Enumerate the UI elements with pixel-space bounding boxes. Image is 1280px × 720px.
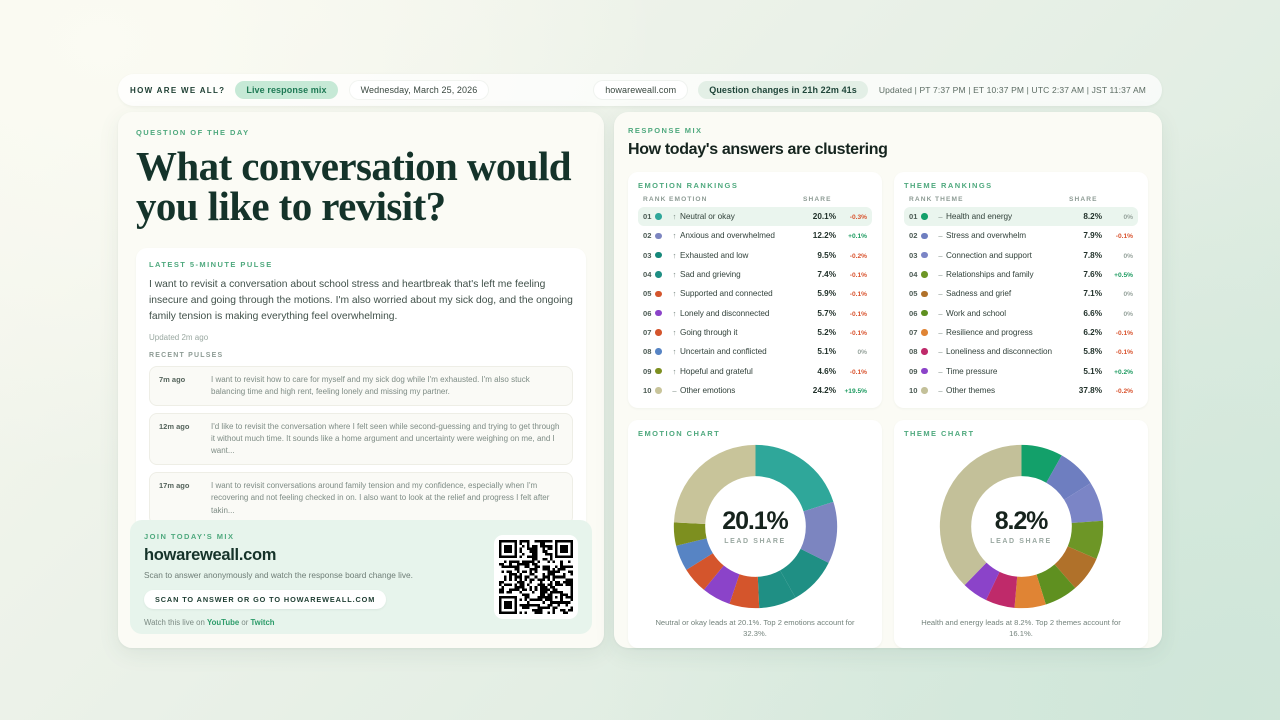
share-cell: 7.1%0% — [1069, 289, 1133, 298]
rank-cell: 07 — [909, 328, 935, 337]
share-delta: -0.1% — [1107, 233, 1133, 240]
rank-cell: 05 — [643, 289, 669, 298]
share-value: 5.2% — [817, 328, 836, 337]
rank-cell: 02 — [909, 231, 935, 240]
share-delta: 0% — [1107, 253, 1133, 260]
share-value: 8.2% — [1083, 212, 1102, 221]
share-cell: 20.1%-0.3% — [803, 212, 867, 221]
share-cell: 12.2%+0.1% — [803, 231, 867, 240]
trend-arrow-icon: ↑ — [669, 367, 680, 376]
share-cell: 9.5%-0.2% — [803, 251, 867, 260]
category-color-dot — [921, 233, 928, 240]
category-color-dot — [655, 233, 662, 240]
trend-arrow-icon: – — [935, 367, 946, 376]
emotion-rankings-rows: 01↑Neutral or okay20.1%-0.3%02↑Anxious a… — [638, 207, 872, 400]
table-row[interactable]: 06↑Lonely and disconnected5.7%-0.1% — [638, 303, 872, 322]
emotion-rankings-header: RANK EMOTION SHARE — [638, 196, 872, 207]
category-color-dot — [655, 291, 662, 298]
youtube-link[interactable]: YouTube — [207, 618, 239, 627]
category-color-dot — [655, 310, 662, 317]
theme-rankings-rows: 01–Health and energy8.2%0%02–Stress and … — [904, 207, 1138, 400]
share-cell: 8.2%0% — [1069, 212, 1133, 221]
rank-cell: 04 — [643, 270, 669, 279]
emotion-rankings-eyebrow: EMOTION RANKINGS — [638, 181, 872, 190]
rank-cell: 08 — [643, 347, 669, 356]
category-color-dot — [655, 368, 662, 375]
share-delta: 0% — [1107, 214, 1133, 221]
rank-cell: 01 — [643, 212, 669, 221]
table-row[interactable]: 01↑Neutral or okay20.1%-0.3% — [638, 207, 872, 226]
pulse-timestamp: 7m ago — [159, 374, 201, 398]
share-delta: -0.1% — [1107, 349, 1133, 356]
recent-pulses-label: RECENT PULSES — [149, 352, 573, 359]
share-value: 6.2% — [1083, 328, 1102, 337]
category-name: Time pressure — [946, 367, 1069, 376]
category-name: Work and school — [946, 309, 1069, 318]
table-row[interactable]: 05–Sadness and grief7.1%0% — [904, 284, 1138, 303]
charts-grid: EMOTION CHART 20.1% LEAD SHARE Neutral o… — [628, 420, 1148, 648]
category-color-dot — [655, 213, 662, 220]
share-value: 12.2% — [813, 231, 836, 240]
table-row[interactable]: 08–Loneliness and disconnection5.8%-0.1% — [904, 342, 1138, 361]
share-delta: 0% — [1107, 311, 1133, 318]
table-row[interactable]: 06–Work and school6.6%0% — [904, 303, 1138, 322]
latest-pulse-card: LATEST 5-MINUTE PULSE I want to revisit … — [136, 248, 586, 538]
trend-arrow-icon: ↑ — [669, 270, 680, 279]
table-row[interactable]: 01–Health and energy8.2%0% — [904, 207, 1138, 226]
share-delta: 0% — [841, 349, 867, 356]
share-delta: +0.5% — [1107, 272, 1133, 279]
trend-arrow-icon: – — [669, 386, 680, 395]
category-color-dot — [921, 291, 928, 298]
join-mix-card: JOIN TODAY'S MIX howareweall.com Scan to… — [130, 520, 592, 634]
share-cell: 5.1%0% — [803, 347, 867, 356]
share-value: 20.1% — [813, 212, 836, 221]
category-name: Stress and overwhelm — [946, 231, 1069, 240]
response-mix-panel: RESPONSE MIX How today's answers are clu… — [614, 112, 1162, 648]
rank-cell: 06 — [643, 309, 669, 318]
category-color-dot — [921, 348, 928, 355]
share-value: 5.7% — [817, 309, 836, 318]
trend-arrow-icon: ↑ — [669, 289, 680, 298]
theme-chart-card: THEME CHART 8.2% LEAD SHARE Health and e… — [894, 420, 1148, 648]
share-cell: 5.9%-0.1% — [803, 289, 867, 298]
trend-arrow-icon: – — [935, 328, 946, 337]
share-cell: 6.6%0% — [1069, 309, 1133, 318]
category-name: Connection and support — [946, 251, 1069, 260]
join-subtitle: Scan to answer anonymously and watch the… — [144, 570, 474, 582]
share-cell: 7.6%+0.5% — [1069, 270, 1133, 279]
pulse-timestamp: 17m ago — [159, 480, 201, 516]
emotion-donut[interactable]: 20.1% LEAD SHARE — [673, 444, 838, 609]
trend-arrow-icon: ↑ — [669, 328, 680, 337]
share-value: 6.6% — [1083, 309, 1102, 318]
table-row[interactable]: 10–Other emotions24.2%+19.5% — [638, 381, 872, 400]
category-name: Hopeful and grateful — [680, 367, 803, 376]
table-row[interactable]: 09↑Hopeful and grateful4.6%-0.1% — [638, 361, 872, 380]
share-cell: 5.1%+0.2% — [1069, 367, 1133, 376]
trend-arrow-icon: ↑ — [669, 251, 680, 260]
emotion-donut-svg — [673, 444, 838, 609]
category-name: Lonely and disconnected — [680, 309, 803, 318]
category-color-dot — [655, 348, 662, 355]
column-rank: RANK — [909, 196, 935, 203]
table-row[interactable]: 04–Relationships and family7.6%+0.5% — [904, 265, 1138, 284]
table-row[interactable]: 03↑Exhausted and low9.5%-0.2% — [638, 246, 872, 265]
topbar-right-group: howareweall.com Question changes in 21h … — [594, 81, 1150, 99]
share-cell: 7.9%-0.1% — [1069, 231, 1133, 240]
table-row[interactable]: 08↑Uncertain and conflicted5.1%0% — [638, 342, 872, 361]
category-name: Supported and connected — [680, 289, 803, 298]
pulse-timestamp: 12m ago — [159, 421, 201, 457]
trend-arrow-icon: – — [935, 212, 946, 221]
pulse-body-text: I want to revisit a conversation about s… — [149, 277, 573, 325]
trend-arrow-icon: – — [935, 309, 946, 318]
table-row[interactable]: 10–Other themes37.8%-0.2% — [904, 381, 1138, 400]
pulse-eyebrow: LATEST 5-MINUTE PULSE — [149, 260, 573, 269]
rank-cell: 06 — [909, 309, 935, 318]
rank-cell: 04 — [909, 270, 935, 279]
category-color-dot — [655, 387, 662, 394]
share-value: 7.6% — [1083, 270, 1102, 279]
trend-arrow-icon: – — [935, 347, 946, 356]
share-delta: -0.1% — [841, 369, 867, 376]
share-cell: 5.7%-0.1% — [803, 309, 867, 318]
share-value: 5.1% — [1083, 367, 1102, 376]
theme-donut[interactable]: 8.2% LEAD SHARE — [939, 444, 1104, 609]
category-name: Exhausted and low — [680, 251, 803, 260]
pulse-updated-label: Updated 2m ago — [149, 333, 573, 342]
share-cell: 5.2%-0.1% — [803, 328, 867, 337]
theme-rankings-eyebrow: THEME RANKINGS — [904, 181, 1138, 190]
category-color-dot — [921, 252, 928, 259]
rankings-grid: EMOTION RANKINGS RANK EMOTION SHARE 01↑N… — [628, 172, 1148, 408]
rank-cell: 01 — [909, 212, 935, 221]
column-emotion: EMOTION — [669, 196, 803, 203]
list-item[interactable]: 17m ago I want to revisit conversations … — [149, 472, 573, 524]
share-delta: -0.1% — [841, 330, 867, 337]
watch-or: or — [239, 618, 250, 627]
share-value: 5.9% — [817, 289, 836, 298]
category-color-dot — [655, 329, 662, 336]
date-pill: Wednesday, March 25, 2026 — [350, 81, 489, 99]
rank-cell: 03 — [643, 251, 669, 260]
question-eyebrow: QUESTION OF THE DAY — [136, 128, 586, 137]
domain-pill[interactable]: howareweall.com — [594, 81, 687, 99]
rank-cell: 10 — [643, 386, 669, 395]
share-value: 24.2% — [813, 386, 836, 395]
scan-to-answer-button[interactable]: SCAN TO ANSWER OR GO TO HOWAREWEALL.COM — [144, 590, 386, 609]
trend-arrow-icon: – — [935, 251, 946, 260]
qr-code-container[interactable] — [494, 535, 578, 619]
category-name: Neutral or okay — [680, 212, 803, 221]
rank-cell: 03 — [909, 251, 935, 260]
category-name: Loneliness and disconnection — [946, 347, 1069, 356]
trend-arrow-icon: ↑ — [669, 347, 680, 356]
share-cell: 4.6%-0.1% — [803, 367, 867, 376]
theme-donut-svg — [939, 444, 1104, 609]
emotion-rankings-card: EMOTION RANKINGS RANK EMOTION SHARE 01↑N… — [628, 172, 882, 408]
share-delta: -0.1% — [841, 291, 867, 298]
category-color-dot — [655, 271, 662, 278]
watch-live-line: Watch this live on YouTube or Twitch — [144, 618, 474, 627]
join-card-text: JOIN TODAY'S MIX howareweall.com Scan to… — [144, 532, 474, 622]
live-response-mix-pill[interactable]: Live response mix — [235, 81, 337, 99]
share-value: 7.4% — [817, 270, 836, 279]
share-cell: 24.2%+19.5% — [803, 386, 867, 395]
share-delta: 0% — [1107, 291, 1133, 298]
brand-label: HOW ARE WE ALL? — [130, 86, 225, 95]
table-row[interactable]: 04↑Sad and grieving7.4%-0.1% — [638, 265, 872, 284]
response-mix-eyebrow: RESPONSE MIX — [628, 126, 1148, 135]
rank-cell: 08 — [909, 347, 935, 356]
share-value: 5.8% — [1083, 347, 1102, 356]
category-color-dot — [921, 368, 928, 375]
trend-arrow-icon: – — [935, 386, 946, 395]
twitch-link[interactable]: Twitch — [250, 618, 274, 627]
table-row[interactable]: 02–Stress and overwhelm7.9%-0.1% — [904, 226, 1138, 245]
share-cell: 7.8%0% — [1069, 251, 1133, 260]
category-name: Resilience and progress — [946, 328, 1069, 337]
share-value: 7.1% — [1083, 289, 1102, 298]
top-bar: HOW ARE WE ALL? Live response mix Wednes… — [118, 74, 1162, 106]
column-share: SHARE — [1069, 196, 1133, 203]
column-share: SHARE — [803, 196, 867, 203]
pulse-snippet: I want to revisit how to care for myself… — [211, 374, 563, 398]
category-name: Sad and grieving — [680, 270, 803, 279]
theme-chart-note: Health and energy leads at 8.2%. Top 2 t… — [911, 617, 1131, 639]
category-name: Relationships and family — [946, 270, 1069, 279]
table-row[interactable]: 05↑Supported and connected5.9%-0.1% — [638, 284, 872, 303]
rank-cell: 10 — [909, 386, 935, 395]
trend-arrow-icon: – — [935, 231, 946, 240]
rank-cell: 09 — [643, 367, 669, 376]
share-value: 9.5% — [817, 251, 836, 260]
category-name: Going through it — [680, 328, 803, 337]
emotion-chart-card: EMOTION CHART 20.1% LEAD SHARE Neutral o… — [628, 420, 882, 648]
share-cell: 6.2%-0.1% — [1069, 328, 1133, 337]
share-delta: -0.1% — [841, 311, 867, 318]
table-row[interactable]: 03–Connection and support7.8%0% — [904, 246, 1138, 265]
category-name: Other emotions — [680, 386, 803, 395]
trend-arrow-icon: ↑ — [669, 212, 680, 221]
column-theme: THEME — [935, 196, 1069, 203]
category-color-dot — [921, 310, 928, 317]
table-row[interactable]: 02↑Anxious and overwhelmed12.2%+0.1% — [638, 226, 872, 245]
share-delta: -0.2% — [1107, 388, 1133, 395]
share-value: 37.8% — [1079, 386, 1102, 395]
share-cell: 7.4%-0.1% — [803, 270, 867, 279]
trend-arrow-icon: – — [935, 270, 946, 279]
theme-chart-title: THEME CHART — [904, 429, 975, 438]
watch-prefix: Watch this live on — [144, 618, 207, 627]
category-name: Anxious and overwhelmed — [680, 231, 803, 240]
emotion-chart-title: EMOTION CHART — [638, 429, 720, 438]
emotion-chart-note: Neutral or okay leads at 20.1%. Top 2 em… — [645, 617, 865, 639]
category-name: Sadness and grief — [946, 289, 1069, 298]
share-delta: -0.3% — [841, 214, 867, 221]
share-value: 7.8% — [1083, 251, 1102, 260]
trend-arrow-icon: ↑ — [669, 309, 680, 318]
page-title: What conversation would you like to revi… — [136, 146, 586, 226]
rank-cell: 05 — [909, 289, 935, 298]
category-color-dot — [921, 387, 928, 394]
share-delta: +0.1% — [841, 233, 867, 240]
category-color-dot — [921, 329, 928, 336]
share-value: 4.6% — [817, 367, 836, 376]
app-stage: HOW ARE WE ALL? Live response mix Wednes… — [0, 0, 1280, 720]
rank-cell: 09 — [909, 367, 935, 376]
table-row[interactable]: 07↑Going through it5.2%-0.1% — [638, 323, 872, 342]
share-delta: -0.1% — [841, 272, 867, 279]
category-color-dot — [921, 271, 928, 278]
table-row[interactable]: 07–Resilience and progress6.2%-0.1% — [904, 323, 1138, 342]
join-domain: howareweall.com — [144, 546, 474, 565]
rank-cell: 02 — [643, 231, 669, 240]
trend-arrow-icon: ↑ — [669, 231, 680, 240]
theme-rankings-card: THEME RANKINGS RANK THEME SHARE 01–Healt… — [894, 172, 1148, 408]
column-rank: RANK — [643, 196, 669, 203]
table-row[interactable]: 09–Time pressure5.1%+0.2% — [904, 361, 1138, 380]
join-eyebrow: JOIN TODAY'S MIX — [144, 532, 474, 541]
category-color-dot — [655, 252, 662, 259]
share-cell: 5.8%-0.1% — [1069, 347, 1133, 356]
rank-cell: 07 — [643, 328, 669, 337]
list-item[interactable]: 12m ago I'd like to revisit the conversa… — [149, 413, 573, 465]
qr-code-icon — [499, 540, 573, 614]
share-delta: +19.5% — [841, 388, 867, 395]
category-name: Health and energy — [946, 212, 1069, 221]
list-item[interactable]: 7m ago I want to revisit how to care for… — [149, 366, 573, 406]
updated-timestamps: Updated | PT 7:37 PM | ET 10:37 PM | UTC… — [879, 85, 1150, 95]
share-value: 5.1% — [817, 347, 836, 356]
share-value: 7.9% — [1083, 231, 1102, 240]
share-delta: -0.1% — [1107, 330, 1133, 337]
category-color-dot — [921, 213, 928, 220]
share-delta: -0.2% — [841, 253, 867, 260]
category-name: Other themes — [946, 386, 1069, 395]
category-name: Uncertain and conflicted — [680, 347, 803, 356]
trend-arrow-icon: – — [935, 289, 946, 298]
share-cell: 37.8%-0.2% — [1069, 386, 1133, 395]
share-delta: +0.2% — [1107, 369, 1133, 376]
theme-rankings-header: RANK THEME SHARE — [904, 196, 1138, 207]
countdown-pill: Question changes in 21h 22m 41s — [698, 81, 868, 99]
pulse-snippet: I want to revisit conversations around f… — [211, 480, 563, 516]
response-mix-title: How today's answers are clustering — [628, 141, 1148, 159]
pulse-snippet: I'd like to revisit the conversation whe… — [211, 421, 563, 457]
